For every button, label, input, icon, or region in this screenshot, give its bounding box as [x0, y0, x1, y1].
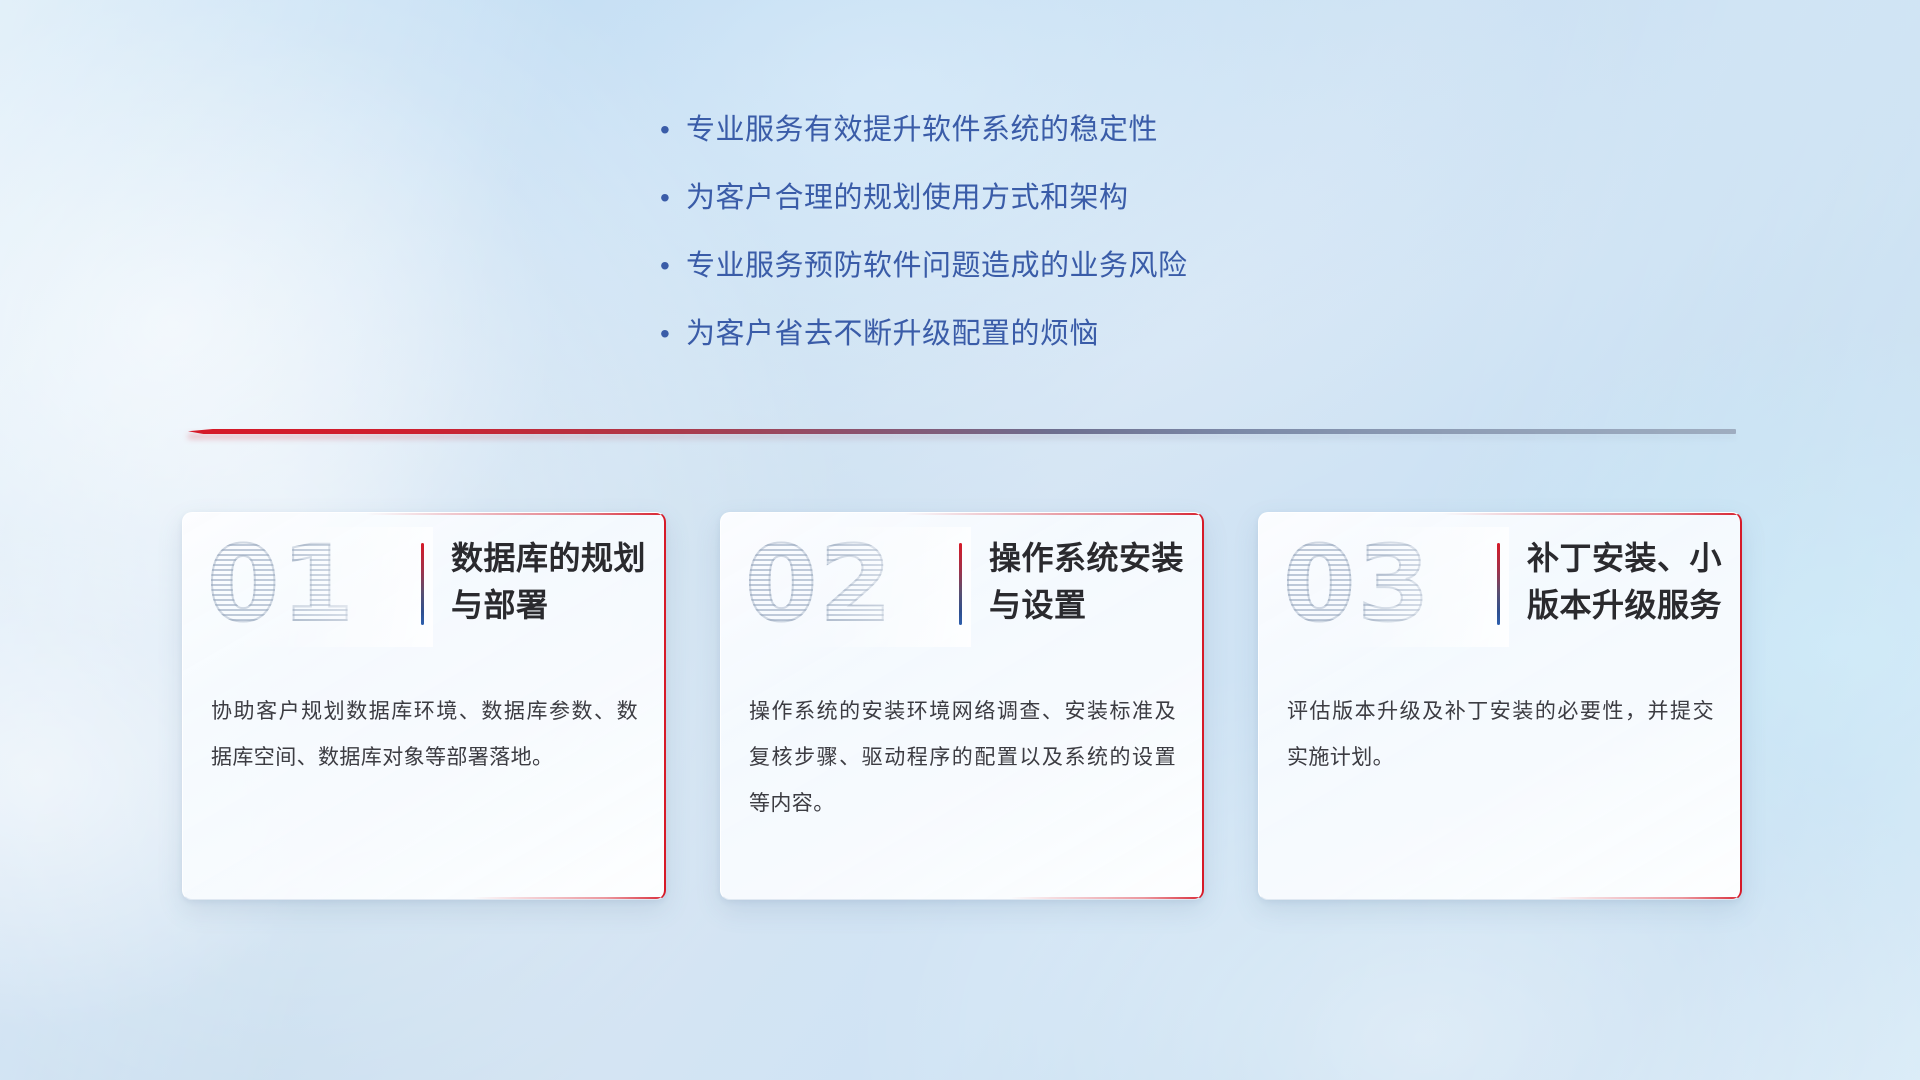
card-header: 03 补丁安装、小版本升级服务 — [1259, 513, 1740, 653]
bullet-dot-icon: • — [660, 108, 686, 152]
list-item: • 为客户合理的规划使用方式和架构 — [660, 176, 1188, 220]
card-number: 01 — [207, 529, 356, 639]
service-card-group: 01 数据库的规划与部署 协助客户规划数据库环境、数据库参数、数据库空间、数据库… — [182, 512, 1742, 912]
bullet-text: 专业服务有效提升软件系统的稳定性 — [686, 108, 1158, 152]
slide-root: • 专业服务有效提升软件系统的稳定性 • 为客户合理的规划使用方式和架构 • 专… — [0, 0, 1920, 1080]
card-number: 02 — [745, 529, 894, 639]
list-item: • 为客户省去不断升级配置的烦恼 — [660, 312, 1188, 356]
bullet-text: 为客户省去不断升级配置的烦恼 — [686, 312, 1099, 356]
service-card-03[interactable]: 03 补丁安装、小版本升级服务 评估版本升级及补丁安装的必要性，并提交实施计划。 — [1258, 512, 1742, 900]
card-title-rule — [959, 543, 962, 625]
card-title: 操作系统安装与设置 — [989, 535, 1189, 629]
section-divider — [188, 425, 1736, 439]
list-item: • 专业服务预防软件问题造成的业务风险 — [660, 244, 1188, 288]
card-title-rule — [421, 543, 424, 625]
bullet-text: 专业服务预防软件问题造成的业务风险 — [686, 244, 1188, 288]
service-card-01[interactable]: 01 数据库的规划与部署 协助客户规划数据库环境、数据库参数、数据库空间、数据库… — [182, 512, 666, 900]
card-title-rule — [1497, 543, 1500, 625]
card-number: 03 — [1283, 529, 1432, 639]
card-body-text: 评估版本升级及补丁安装的必要性，并提交实施计划。 — [1287, 689, 1714, 781]
card-body-text: 协助客户规划数据库环境、数据库参数、数据库空间、数据库对象等部署落地。 — [211, 689, 638, 781]
card-title: 数据库的规划与部署 — [451, 535, 651, 629]
bullet-dot-icon: • — [660, 176, 686, 220]
benefits-bullet-list: • 专业服务有效提升软件系统的稳定性 • 为客户合理的规划使用方式和架构 • 专… — [660, 108, 1188, 380]
bullet-dot-icon: • — [660, 312, 686, 356]
divider-glow — [188, 434, 1736, 439]
bullet-text: 为客户合理的规划使用方式和架构 — [686, 176, 1129, 220]
card-body-text: 操作系统的安装环境网络调查、安装标准及复核步骤、驱动程序的配置以及系统的设置等内… — [749, 689, 1176, 827]
card-header: 02 操作系统安装与设置 — [721, 513, 1202, 653]
list-item: • 专业服务有效提升软件系统的稳定性 — [660, 108, 1188, 152]
bullet-dot-icon: • — [660, 244, 686, 288]
card-title: 补丁安装、小版本升级服务 — [1527, 535, 1727, 629]
service-card-02[interactable]: 02 操作系统安装与设置 操作系统的安装环境网络调查、安装标准及复核步骤、驱动程… — [720, 512, 1204, 900]
card-header: 01 数据库的规划与部署 — [183, 513, 664, 653]
